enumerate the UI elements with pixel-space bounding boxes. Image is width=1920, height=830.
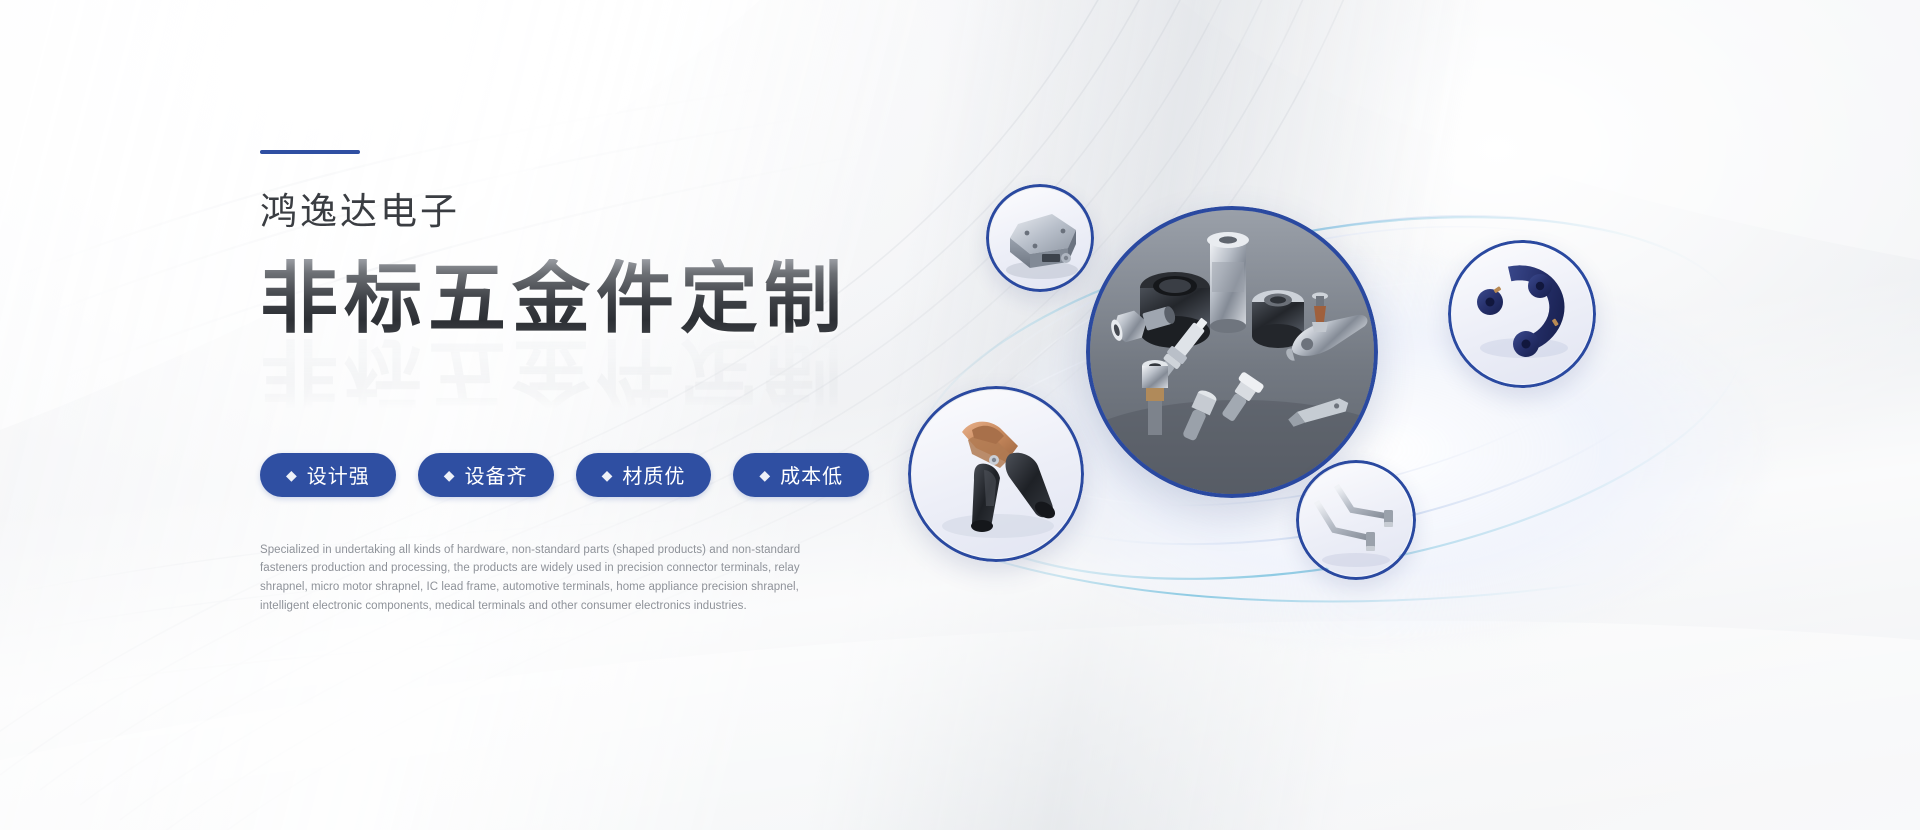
diamond-icon: ◆: [444, 468, 456, 482]
node-image-retaining-ring: [1452, 244, 1592, 384]
badge-label: 设计强: [307, 460, 370, 489]
badge-label: 成本低: [780, 460, 843, 489]
node-alligator-clip[interactable]: [908, 386, 1084, 562]
badge-label: 材质优: [622, 460, 685, 489]
accent-rule: [260, 150, 360, 154]
page-title: 非标五金件定制: [260, 259, 940, 337]
brand-name: 鸿逸达电子: [260, 192, 940, 233]
node-image-terminal-pins: [1300, 464, 1412, 576]
node-retaining-ring[interactable]: [1448, 240, 1596, 388]
headline-block: 非标五金件定制 非标五金件定制: [260, 259, 940, 391]
badge-label: 设备齐: [465, 460, 528, 489]
node-terminal-pins[interactable]: [1296, 460, 1416, 580]
badge-equipment-complete[interactable]: ◆ 设备齐: [418, 453, 554, 497]
diamond-icon: ◆: [602, 468, 614, 482]
node-image-alligator-clip: [912, 390, 1080, 558]
description-paragraph: Specialized in undertaking all kinds of …: [260, 541, 826, 616]
node-image-machined-parts: [1090, 210, 1374, 494]
diamond-icon: ◆: [286, 468, 298, 482]
node-machined-parts[interactable]: [1086, 206, 1378, 498]
badge-low-cost[interactable]: ◆ 成本低: [733, 453, 869, 497]
node-image-enclosure: [990, 188, 1090, 288]
node-sheet-metal-enclosure[interactable]: [986, 184, 1094, 292]
feature-badge-list: ◆ 设计强 ◆ 设备齐 ◆ 材质优 ◆ 成本低: [260, 453, 940, 497]
product-showcase: [900, 130, 1900, 690]
badge-material-quality[interactable]: ◆ 材质优: [576, 453, 712, 497]
diamond-icon: ◆: [759, 468, 771, 482]
badge-design-strength[interactable]: ◆ 设计强: [260, 453, 396, 497]
hero-banner: 鸿逸达电子 非标五金件定制 非标五金件定制 ◆ 设计强 ◆ 设备齐 ◆ 材质优 …: [0, 0, 1920, 830]
hero-copy: 鸿逸达电子 非标五金件定制 非标五金件定制 ◆ 设计强 ◆ 设备齐 ◆ 材质优 …: [260, 150, 940, 615]
headline-reflection: 非标五金件定制: [260, 335, 848, 413]
